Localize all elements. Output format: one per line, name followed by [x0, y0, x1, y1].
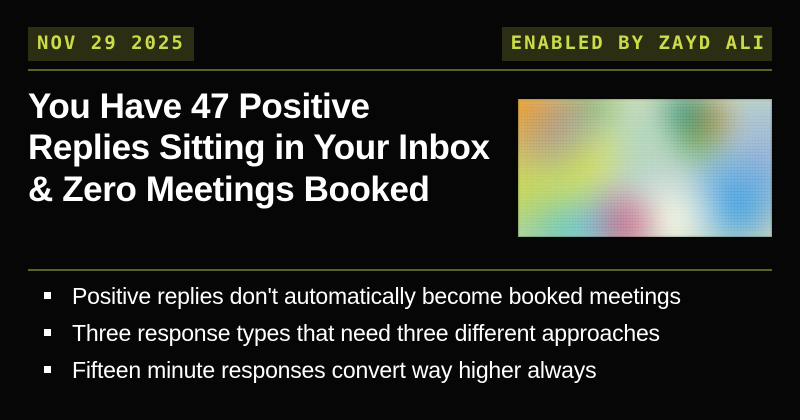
date-badge: NOV 29 2025 [28, 27, 194, 61]
bullets-divider [28, 269, 772, 271]
bullet-list: Positive replies don't automatically bec… [28, 285, 772, 396]
header-divider [28, 69, 772, 71]
header: NOV 29 2025 ENABLED BY ZAYD ALI [28, 28, 772, 60]
list-item: Fifteen minute responses convert way hig… [28, 359, 772, 396]
square-bullet-icon [44, 292, 51, 299]
credit-badge: ENABLED BY ZAYD ALI [502, 27, 772, 61]
social-card: NOV 29 2025 ENABLED BY ZAYD ALI You Have… [0, 0, 800, 420]
list-item-label: Three response types that need three dif… [72, 322, 660, 345]
thumbnail-border [518, 99, 772, 237]
square-bullet-icon [44, 366, 51, 373]
list-item: Three response types that need three dif… [28, 322, 772, 359]
page-title: You Have 47 Positive Replies Sitting in … [28, 86, 498, 210]
list-item: Positive replies don't automatically bec… [28, 285, 772, 322]
square-bullet-icon [44, 329, 51, 336]
list-item-label: Positive replies don't automatically bec… [72, 285, 681, 308]
hero-thumbnail [518, 99, 772, 237]
list-item-label: Fifteen minute responses convert way hig… [72, 359, 596, 382]
